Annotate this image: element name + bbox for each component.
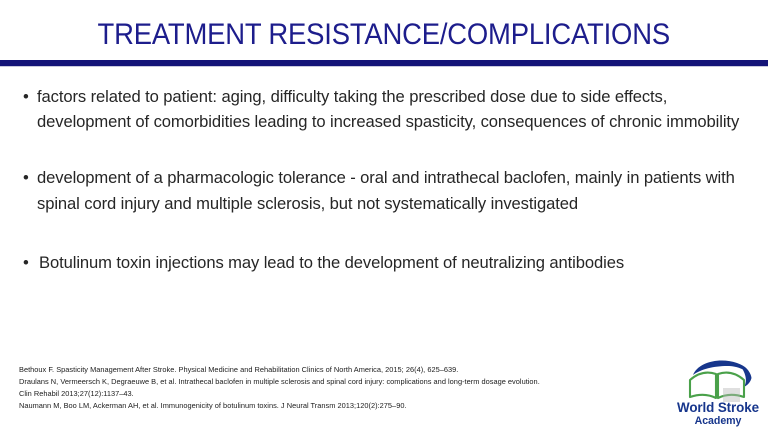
- bullet-text-3: Botulinum toxin injections may lead to t…: [39, 253, 624, 272]
- page-title: TREATMENT RESISTANCE/COMPLICATIONS: [98, 20, 670, 50]
- bullet-dot-icon: •: [23, 84, 35, 109]
- slide-body: • factors related to patient: aging, dif…: [22, 80, 754, 275]
- bullet-dot-icon: •: [23, 165, 35, 190]
- title-divider-shadow: [0, 66, 768, 67]
- reference-line-1: Bethoux F. Spasticity Management After S…: [19, 364, 649, 376]
- logo-wordmark: World Stroke Academy: [672, 400, 764, 428]
- reference-line-2: Draulans N, Vermeersch K, Degraeuwe B, e…: [19, 376, 649, 388]
- bullet-item-1: • factors related to patient: aging, dif…: [22, 84, 754, 134]
- bullet-text-1: factors related to patient: aging, diffi…: [37, 87, 739, 131]
- slide-canvas: TREATMENT RESISTANCE/COMPLICATIONS • fac…: [0, 0, 768, 432]
- bullet-text-2: development of a pharmacologic tolerance…: [37, 168, 735, 212]
- reference-line-3: Clin Rehabil 2013;27(12):1137–43.: [19, 388, 649, 400]
- bullet-item-2: • development of a pharmacologic toleran…: [22, 165, 754, 215]
- slide-title-container: TREATMENT RESISTANCE/COMPLICATIONS: [0, 12, 768, 58]
- logo-name-line-1: World Stroke: [672, 400, 764, 415]
- bullet-dot-icon: •: [23, 250, 35, 275]
- open-book-with-swoosh-icon: [680, 358, 756, 402]
- reference-line-4: Naumann M, Boo LM, Ackerman AH, et al. I…: [19, 400, 649, 412]
- bullet-item-3: • Botulinum toxin injections may lead to…: [22, 250, 754, 275]
- logo-name-line-2: Academy: [672, 415, 764, 428]
- reference-list: Bethoux F. Spasticity Management After S…: [19, 364, 649, 412]
- world-stroke-academy-logo: World Stroke Academy: [672, 358, 764, 430]
